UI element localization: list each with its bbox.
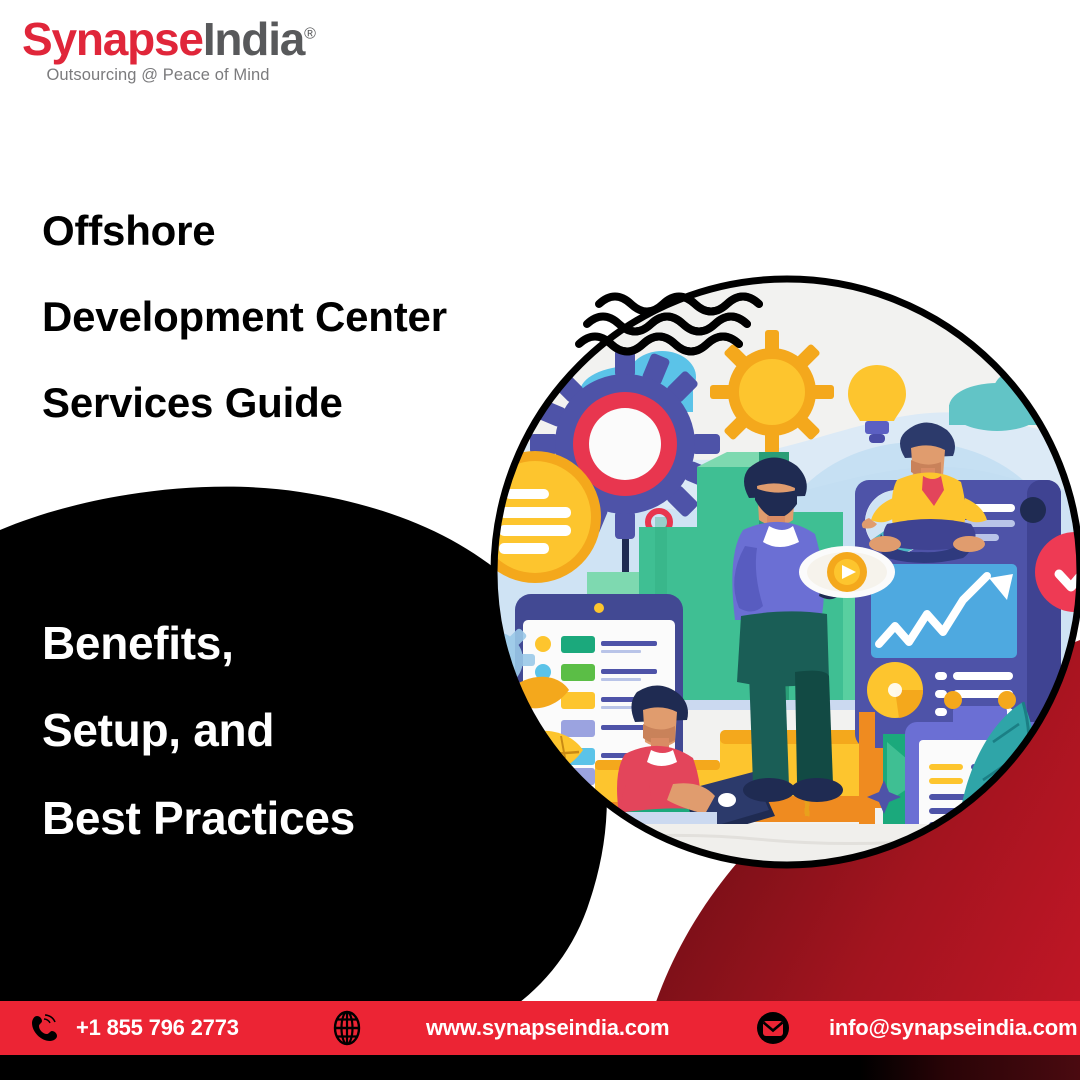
footer-website-label: www.synapseindia.com [426,1015,669,1041]
illustration-circle [487,272,1080,872]
globe-icon [330,1010,364,1046]
footer-email-item[interactable]: info@synapseindia.com [755,1010,1077,1046]
registered-trademark-icon: ® [304,26,315,43]
subhead-line-3: Best Practices [42,775,355,862]
footer-black-strip-gradient [860,1055,1080,1080]
logo-tagline: Outsourcing @ Peace of Mind [22,66,294,85]
headline-line-2: Development Center [42,274,447,360]
phone-icon [28,1011,62,1045]
yellow-pie-chart-icon [867,662,923,718]
sun-gear-icon [710,330,834,454]
page-title: Offshore Development Center Services Gui… [42,188,447,446]
envelope-icon [755,1010,791,1046]
headline-line-1: Offshore [42,188,447,274]
subhead-line-2: Setup, and [42,687,355,774]
poster-canvas: SynapseIndia® Outsourcing @ Peace of Min… [0,0,1080,1080]
logo-india-text: India [203,13,304,65]
coin-plate-icon [799,546,895,598]
footer-phone-label: +1 855 796 2773 [76,1015,239,1041]
logo-synapse-text: Synapse [22,13,203,65]
brand-logo[interactable]: SynapseIndia® Outsourcing @ Peace of Min… [22,16,382,85]
logo-wordmark: SynapseIndia® [22,16,382,63]
contact-footer-bar: +1 855 796 2773 www.synapseindia.com [0,1001,1080,1055]
headline-line-3: Services Guide [42,360,447,446]
footer-email-label: info@synapseindia.com [829,1015,1077,1041]
page-subtitle: Benefits, Setup, and Best Practices [42,600,355,862]
footer-phone-item[interactable]: +1 855 796 2773 [28,1011,239,1045]
subhead-line-1: Benefits, [42,600,355,687]
footer-website-item[interactable]: www.synapseindia.com [330,1010,669,1046]
